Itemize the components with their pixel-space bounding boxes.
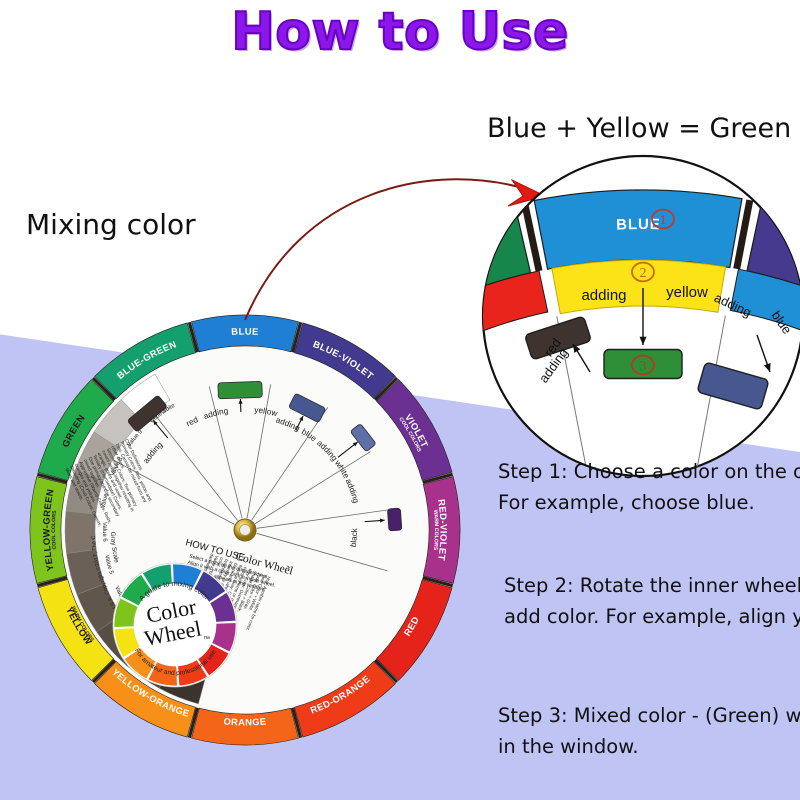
inset-adding-yellow-a: adding xyxy=(581,287,626,304)
step-2-line-2: add color. For example, align yellow. xyxy=(504,601,800,632)
step-2: Step 2: Rotate the inner wheel freely to… xyxy=(504,570,800,632)
screenshot-root: BLUEBLUE-VIOLETVIOLETRED-VIOLETREDRED-OR… xyxy=(0,0,800,800)
inset-adding-yellow-b: yellow xyxy=(666,284,708,301)
inset-ring-label: GREEN xyxy=(425,241,485,277)
page-title: How to Use xyxy=(0,2,800,62)
inset-marker-3: 3 xyxy=(640,359,647,374)
formula-label: Blue + Yellow = Green xyxy=(487,113,791,144)
step-3: Step 3: Mixed color - (Green) will appre… xyxy=(498,700,800,762)
step-1: Step 1: Choose a color on the outer whee… xyxy=(498,456,800,518)
step-1-line-1: Step 1: Choose a color on the outer whee… xyxy=(498,456,800,487)
inset-marker-2: 2 xyxy=(640,266,647,281)
step-3-line-2: in the window. xyxy=(498,731,800,762)
inset-marker-1: 1 xyxy=(660,213,667,228)
step-1-line-2: For example, choose blue. xyxy=(498,487,800,518)
step-2-line-1: Step 2: Rotate the inner wheel freely to xyxy=(504,570,800,601)
step-3-line-1: Step 3: Mixed color - (Green) will appre… xyxy=(498,700,800,731)
mixing-color-label: Mixing color xyxy=(26,208,196,241)
